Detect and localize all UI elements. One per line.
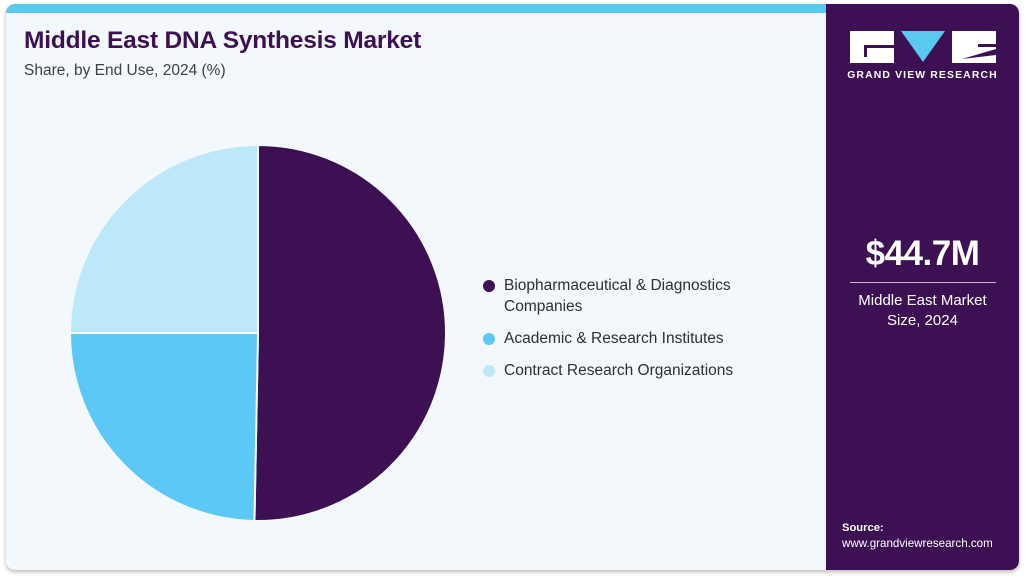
legend-swatch-icon	[483, 333, 495, 345]
stat-caption-line-2: Size, 2024	[887, 312, 958, 329]
gvr-logo-icon	[850, 31, 996, 63]
brand-logo: GRAND VIEW RESEARCH	[826, 31, 1019, 81]
page-subtitle: Share, by End Use, 2024 (%)	[24, 62, 724, 81]
legend-item-label: Contract Research Organizations	[504, 361, 733, 382]
pie-slice[interactable]	[70, 145, 258, 333]
legend-swatch-icon	[483, 365, 495, 377]
source-url[interactable]: www.grandviewresearch.com	[842, 536, 993, 552]
source-label: Source:	[842, 521, 993, 536]
legend-item-academic-research-institutes[interactable]: Academic & Research Institutes	[483, 329, 813, 350]
pie-slice[interactable]	[254, 145, 446, 521]
stat-caption-line-1: Middle East Market	[858, 292, 986, 309]
market-size-stat: $44.7M Middle East Market Size, 2024	[826, 236, 1019, 330]
pie-chart	[62, 137, 454, 529]
pie-slice-group	[70, 145, 446, 521]
stat-divider	[850, 282, 996, 283]
title-block: Middle East DNA Synthesis Market Share, …	[24, 28, 724, 81]
chart-card: Middle East DNA Synthesis Market Share, …	[6, 4, 1019, 570]
legend-item-label: Biopharmaceutical & Diagnostics Companie…	[504, 276, 784, 318]
stat-value: $44.7M	[826, 236, 1019, 273]
chart-legend: Biopharmaceutical & Diagnostics Companie…	[483, 276, 813, 393]
legend-item-biopharmaceutical-diagnostics-companies[interactable]: Biopharmaceutical & Diagnostics Companie…	[483, 276, 813, 318]
legend-swatch-icon	[483, 280, 495, 292]
brand-wordmark: GRAND VIEW RESEARCH	[826, 70, 1019, 81]
source-block: Source: www.grandviewresearch.com	[842, 521, 993, 552]
stat-caption: Middle East Market Size, 2024	[826, 291, 1019, 331]
pie-chart-svg	[62, 137, 454, 529]
legend-item-contract-research-organizations[interactable]: Contract Research Organizations	[483, 361, 813, 382]
side-panel: GRAND VIEW RESEARCH $44.7M Middle East M…	[826, 4, 1019, 570]
legend-item-label: Academic & Research Institutes	[504, 329, 724, 350]
page-title: Middle East DNA Synthesis Market	[24, 28, 724, 55]
pie-slice[interactable]	[70, 333, 258, 521]
